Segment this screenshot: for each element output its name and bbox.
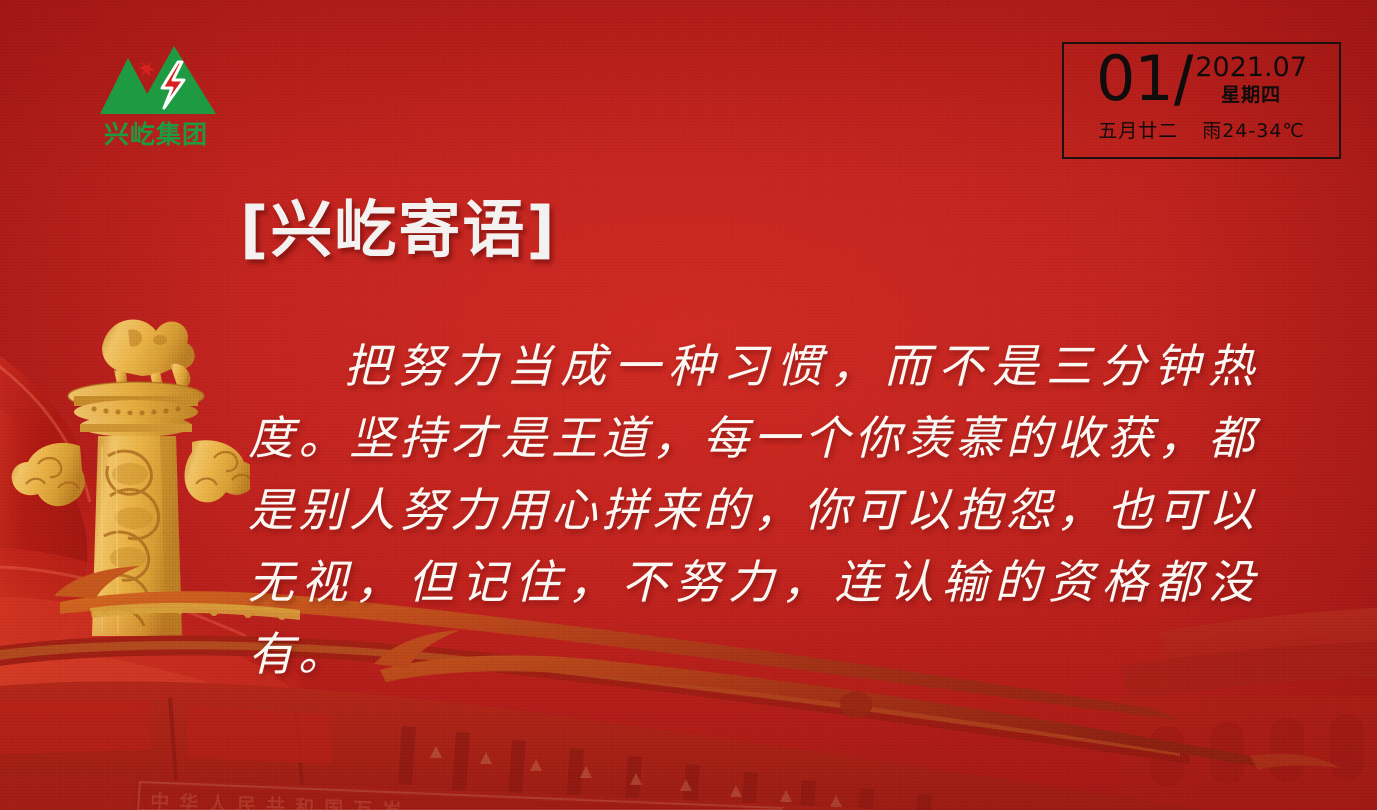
date-card-bottom-row: 五月廿二 雨24-34℃ [1064,116,1339,143]
poster-canvas: 中华人民共和国万岁 兴屹集团 01 / 2021.07 星期四 五月廿二 雨24… [0,0,1377,810]
date-slash: / [1174,48,1193,115]
weather-info: 雨24-34℃ [1202,116,1305,143]
star-icon [138,61,155,77]
company-logo[interactable]: 兴屹集团 [92,36,220,154]
lunar-date: 五月廿二 [1098,116,1178,143]
date-card-right: 2021.07 星期四 [1195,48,1307,109]
date-card-top-row: 01 / 2021.07 星期四 [1064,48,1339,120]
date-card: 01 / 2021.07 星期四 五月廿二 雨24-34℃ [1062,42,1341,159]
date-year-month: 2021.07 [1195,54,1307,82]
date-day: 01 [1096,48,1173,110]
date-weekday: 星期四 [1221,82,1281,109]
logo-wordmark: 兴屹集团 [92,122,220,147]
page-title: [兴屹寄语] [240,196,557,264]
message-paragraph: 把努力当成一种习惯，而不是三分钟热度。坚持才是王道，每一个你羡慕的收获，都是别人… [248,330,1258,690]
